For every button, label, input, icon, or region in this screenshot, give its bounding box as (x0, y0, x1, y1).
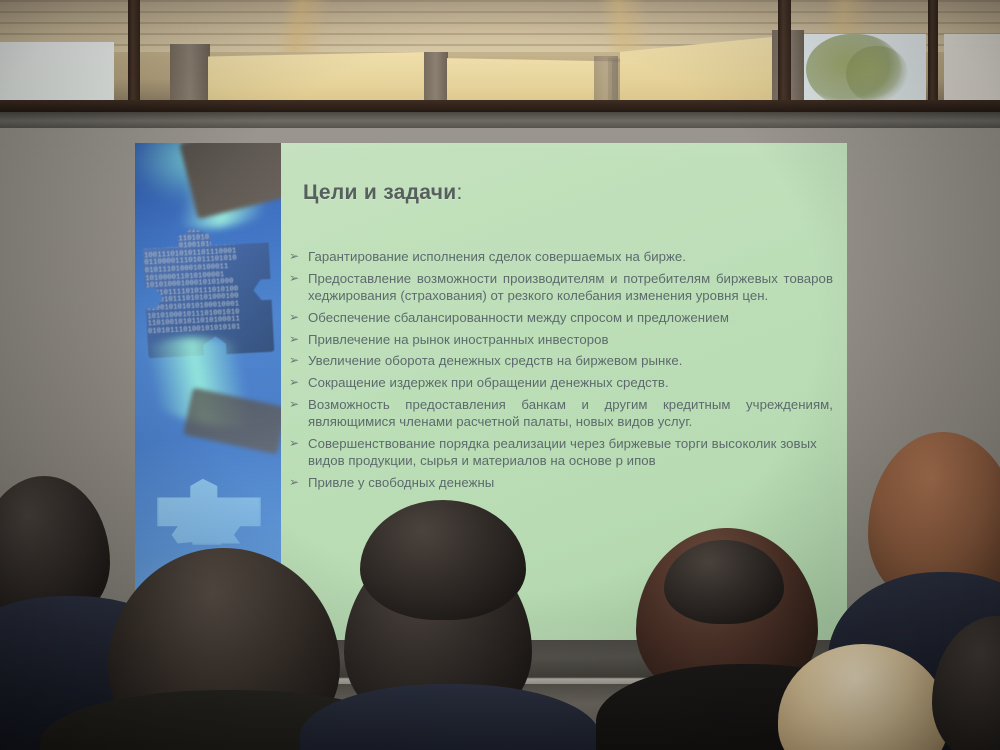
list-item-text: Привлечение на рынок иностранных инвесто… (308, 331, 833, 348)
presentation-photo-scene: 01010 1010011101010110 01010001110101011… (0, 0, 1000, 750)
list-item-text: Гарантирование исполнения сделок соверша… (308, 248, 833, 265)
list-item: ➢ Сокращение издержек при обращении дене… (289, 374, 833, 391)
list-item: ➢ Увеличение оборота денежных средств на… (289, 352, 833, 369)
list-item: ➢ Совершенствование порядка реализации ч… (289, 435, 833, 470)
slide-title: Цели и задачи: (303, 181, 463, 205)
screen-top-bar (0, 112, 1000, 128)
list-item: ➢ Обеспечение сбалансированности между с… (289, 309, 833, 326)
bullet-arrow-icon: ➢ (289, 331, 308, 348)
window-mullion-1 (128, 0, 140, 112)
window-mullion-3 (928, 0, 938, 112)
ceiling-window-band (0, 0, 1000, 112)
list-item: ➢ Возможность предоставления банкам и др… (289, 396, 833, 431)
bullet-list: ➢ Гарантирование исполнения сделок совер… (289, 248, 833, 496)
bullet-arrow-icon: ➢ (289, 270, 308, 305)
tree-foliage-2 (846, 46, 908, 104)
bullet-arrow-icon: ➢ (289, 396, 308, 431)
slide-title-colon: : (456, 181, 462, 204)
list-item-text: Сокращение издержек при обращении денежн… (308, 374, 833, 391)
list-item-text: Увеличение оборота денежных средств на б… (308, 352, 833, 369)
slide-title-text: Цели и задачи (303, 181, 456, 204)
list-item-text: Обеспечение сбалансированности между спр… (308, 309, 833, 326)
list-item: ➢ Гарантирование исполнения сделок совер… (289, 248, 833, 265)
bullet-arrow-icon: ➢ (289, 309, 308, 326)
list-item-text: Привле у свободных денежны (308, 474, 833, 491)
list-item-text: Совершенствование порядка реализации чер… (308, 435, 833, 470)
bullet-arrow-icon: ➢ (289, 374, 308, 391)
window-pane-left (0, 42, 114, 104)
bullet-arrow-icon: ➢ (289, 435, 308, 470)
list-item: ➢ Привле у свободных денежны (289, 474, 833, 491)
bullet-arrow-icon: ➢ (289, 248, 308, 265)
bullet-arrow-icon: ➢ (289, 474, 308, 491)
list-item: ➢ Привлечение на рынок иностранных инвес… (289, 331, 833, 348)
window-mullion-2 (778, 0, 791, 112)
list-item-text: Возможность предоставления банкам и друг… (308, 396, 833, 431)
window-pane-right (944, 34, 1000, 108)
bullet-arrow-icon: ➢ (289, 352, 308, 369)
window-sill (0, 100, 1000, 112)
list-item-text: Предоставление возможности производителя… (308, 270, 833, 305)
puzzle-piece-silhouette (157, 473, 261, 545)
wall-pillar-1 (170, 44, 210, 106)
list-item: ➢ Предоставление возможности производите… (289, 270, 833, 305)
